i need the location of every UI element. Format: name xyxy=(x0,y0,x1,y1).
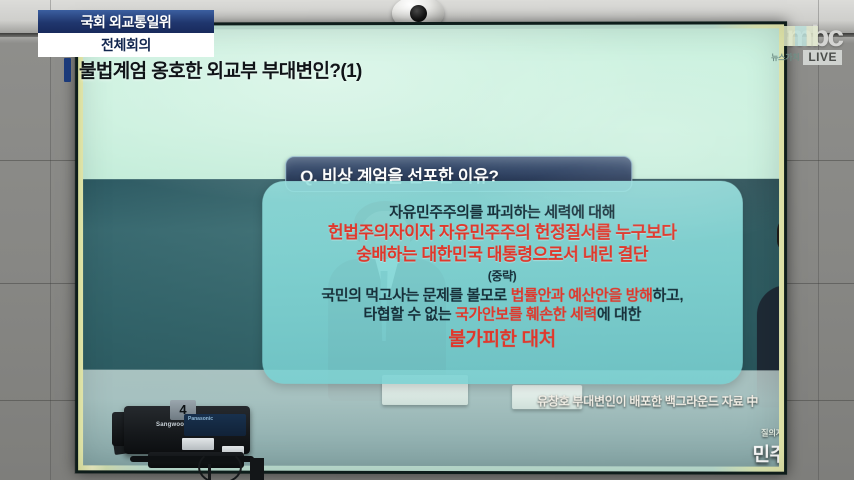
quote-line-7: 불가피한 대처 xyxy=(262,328,743,353)
caption-primary-text: 국회 외교통일위 xyxy=(81,12,172,32)
quote-line-3: 숭배하는 대한민국 대통령으로서 내린 결단 xyxy=(262,244,743,266)
quote-card: 자유민주주의를 파괴하는 세력에 대해 헌법주의자이자 자유민주주의 헌정질서를… xyxy=(262,181,743,385)
quote-line-5-post: 하고, xyxy=(653,287,684,304)
camera-cable xyxy=(198,450,242,480)
camera-pedestal xyxy=(250,458,264,480)
speaker-name-super: 질의자 성북갑 국회의원 민주당 김영배 xyxy=(731,427,779,466)
quote-line-1: 자유민주주의를 파괴하는 세력에 대해 xyxy=(262,203,743,222)
headline-text: 불법계엄 옹호한 외교부 부대변인?(1) xyxy=(79,56,362,83)
network-branding: mbc 뉴스가치 LIVE xyxy=(771,22,842,65)
quote-ellipsis: (중략) xyxy=(262,269,743,284)
network-kor-text: 뉴스가치 xyxy=(771,52,799,63)
wall-panel-seam-vertical xyxy=(818,0,819,480)
camera-cable xyxy=(208,464,211,480)
dome-camera-lens xyxy=(410,5,427,22)
speaker-name: 민주당 김영배 xyxy=(731,440,779,467)
speaker-role-row: 질의자 성북갑 국회의원 xyxy=(731,427,779,438)
wall-panel-seam-vertical xyxy=(50,0,51,480)
quote-line-6-pre: 타협할 수 없는 xyxy=(363,306,455,323)
caption-primary-bar: 국회 외교통일위 xyxy=(38,10,214,33)
caption-secondary-text: 전체회의 xyxy=(101,35,151,55)
headline-block: 불법계엄 옹호한 외교부 부대변인?(1) xyxy=(64,56,362,83)
broadcast-camera: 4 Sangwoo Panasonic xyxy=(112,398,282,480)
quote-line-6-highlight: 국가안보를 훼손한 세력 xyxy=(455,306,597,323)
camera-brand-label: Sangwoo xyxy=(156,422,184,428)
source-caption: 유창호 부대변인이 배포한 백그라운드 자료 中 xyxy=(537,392,758,409)
screenshot-root: Q. 비상 계엄을 선포한 이유? 자유민주주의를 파괴하는 세력에 대해 헌법… xyxy=(0,0,854,480)
headline-marker-icon xyxy=(64,58,71,82)
caption-block: 국회 외교통일위 전체회의 xyxy=(38,10,214,57)
quote-line-5: 국민의 먹고사는 문제를 볼모로 법률안과 예산안을 방해하고, xyxy=(262,286,743,305)
mbc-logo-icon: mbc xyxy=(786,22,842,52)
quote-line-5-highlight: 법률안과 예산안을 방해 xyxy=(511,287,653,304)
quote-line-5-pre: 국민의 먹고사는 문제를 볼모로 xyxy=(321,287,510,304)
mbc-logo-colorbars xyxy=(784,26,818,46)
quote-line-6-post: 에 대한 xyxy=(597,306,641,323)
caption-secondary-bar: 전체회의 xyxy=(38,33,214,57)
camera-viewfinder-label: Panasonic xyxy=(188,416,213,422)
camera-label-plate xyxy=(182,438,214,450)
quote-line-2: 헌법주의자이자 자유민주주의 헌정질서를 누구보다 xyxy=(262,222,743,244)
speaker-role-left: 질의자 xyxy=(761,428,779,439)
quote-line-6: 타협할 수 없는 국가안보를 훼손한 세력에 대한 xyxy=(262,305,743,324)
